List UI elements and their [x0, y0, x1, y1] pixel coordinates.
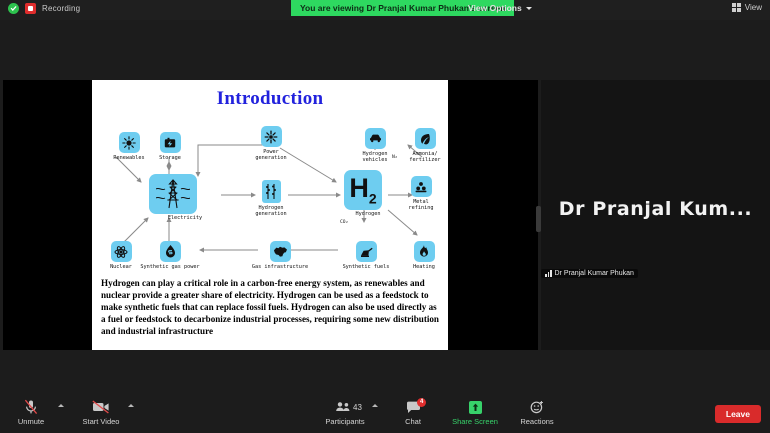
signal-bars-icon [545, 270, 552, 277]
presentation-slide: Introduction [92, 80, 448, 350]
toolbar-left-group: Unmute Start Video [4, 399, 134, 426]
participants-count: 43 [353, 403, 362, 412]
view-label: View [745, 3, 762, 12]
car-icon [365, 128, 386, 149]
node-label: Synthetic fuels [335, 264, 397, 271]
audio-options-chevron-icon[interactable] [58, 404, 64, 407]
node-label: Hydrogen generation [242, 205, 300, 218]
video-options-chevron-icon[interactable] [128, 404, 134, 407]
start-video-label: Start Video [83, 417, 120, 426]
speaker-video-panel[interactable]: Dr Pranjal Kum... [541, 80, 770, 350]
leaf-icon [415, 128, 436, 149]
node-label: Power generation [244, 149, 298, 162]
meeting-toolbar: Unmute Start Video Participants [0, 396, 770, 433]
recording-icon[interactable] [25, 3, 36, 14]
node-electricity: Electricity [149, 174, 221, 221]
node-label: Hydrogen [344, 211, 392, 217]
speaker-name-chip: Dr Pranjal Kumar Phukan [541, 269, 638, 278]
slide-title: Introduction [92, 88, 448, 110]
node-gas-infrastructure: Gas infrastructure [245, 241, 315, 270]
node-label: Gas infrastructure [245, 264, 315, 271]
participants-label: Participants [325, 417, 364, 426]
reactions-label: Reactions [520, 417, 553, 426]
share-screen-label: Share Screen [452, 417, 498, 426]
h2-letter: H [349, 173, 369, 203]
grid-view-icon [732, 3, 741, 12]
node-ammonia-fertilizer: Ammonia/ fertilizer [400, 128, 448, 164]
turbine-icon [261, 126, 282, 147]
node-label: Electricity [149, 215, 221, 221]
view-options-button[interactable]: View Options [462, 0, 538, 16]
unmute-button[interactable]: Unmute [4, 399, 58, 426]
h2-icon: H2 [344, 170, 382, 210]
shield-check-icon[interactable] [8, 3, 19, 14]
share-screen-button[interactable]: Share Screen [448, 399, 502, 426]
view-layout-button[interactable]: View [732, 3, 762, 12]
node-label: Ammonia/ fertilizer [400, 151, 448, 164]
gas-drop-icon [160, 241, 181, 262]
atom-icon [111, 241, 132, 262]
recording-label: Recording [42, 4, 80, 13]
node-label: Storage [146, 155, 194, 162]
hydrogen-flow-diagram: Renewables Storage Power generation [92, 110, 448, 295]
participants-chevron-icon[interactable] [372, 404, 378, 407]
leave-button[interactable]: Leave [715, 405, 761, 423]
pylon-icon [149, 174, 197, 214]
reactions-icon [530, 399, 544, 415]
view-options-label: View Options [468, 3, 522, 13]
node-heating: Heating [402, 241, 446, 270]
annotation-n2: N₂ [392, 155, 398, 160]
participants-icon [335, 399, 355, 415]
battery-icon [160, 132, 181, 153]
node-label: Metal refining [397, 199, 445, 212]
node-synthetic-fuels: Synthetic fuels [335, 241, 397, 270]
shared-screen-area[interactable]: Introduction [3, 80, 538, 350]
flame-icon [414, 241, 435, 262]
h2-subscript: 2 [369, 190, 377, 206]
annotation-co2: CO₂ [340, 220, 348, 225]
node-hydrogen-generation: Hydrogen generation [242, 180, 300, 218]
chat-unread-badge: 4 [417, 398, 426, 407]
start-video-button[interactable]: Start Video [74, 399, 128, 426]
panel-drag-handle[interactable] [536, 206, 541, 232]
chat-button[interactable]: 4 Chat [386, 399, 440, 426]
toolbar-center-group: Participants 43 4 Chat Share Screen [318, 399, 564, 426]
speaker-name-label: Dr Pranjal Kumar Phukan [555, 270, 634, 277]
node-synthetic-gas-power: Synthetic gas power [136, 241, 204, 270]
video-off-icon [92, 399, 110, 415]
unmute-label: Unmute [18, 417, 44, 426]
node-metal-refining: Metal refining [397, 176, 445, 212]
node-power-generation: Power generation [244, 126, 298, 162]
node-storage: Storage [146, 132, 194, 161]
sun-icon [119, 132, 140, 153]
node-label: Synthetic gas power [136, 264, 204, 271]
speaker-display-name: Dr Pranjal Kum... [541, 198, 770, 220]
participants-button[interactable]: Participants 43 [318, 399, 372, 426]
map-icon [270, 241, 291, 262]
node-label: Heating [402, 264, 446, 271]
metal-stack-icon [411, 176, 432, 197]
microphone-muted-icon [24, 399, 38, 415]
reactions-button[interactable]: Reactions [510, 399, 564, 426]
top-bar: Recording You are viewing Dr Pranjal Kum… [0, 0, 770, 20]
chevron-down-icon [526, 7, 532, 10]
node-hydrogen: H2 Hydrogen [344, 170, 392, 217]
electrolyser-icon [262, 180, 281, 203]
slide-body-text: Hydrogen can play a critical role in a c… [92, 277, 448, 337]
chat-label: Chat [405, 417, 421, 426]
share-screen-icon [469, 399, 482, 415]
fuel-nozzle-icon [356, 241, 377, 262]
top-bar-left-group: Recording [8, 3, 80, 14]
